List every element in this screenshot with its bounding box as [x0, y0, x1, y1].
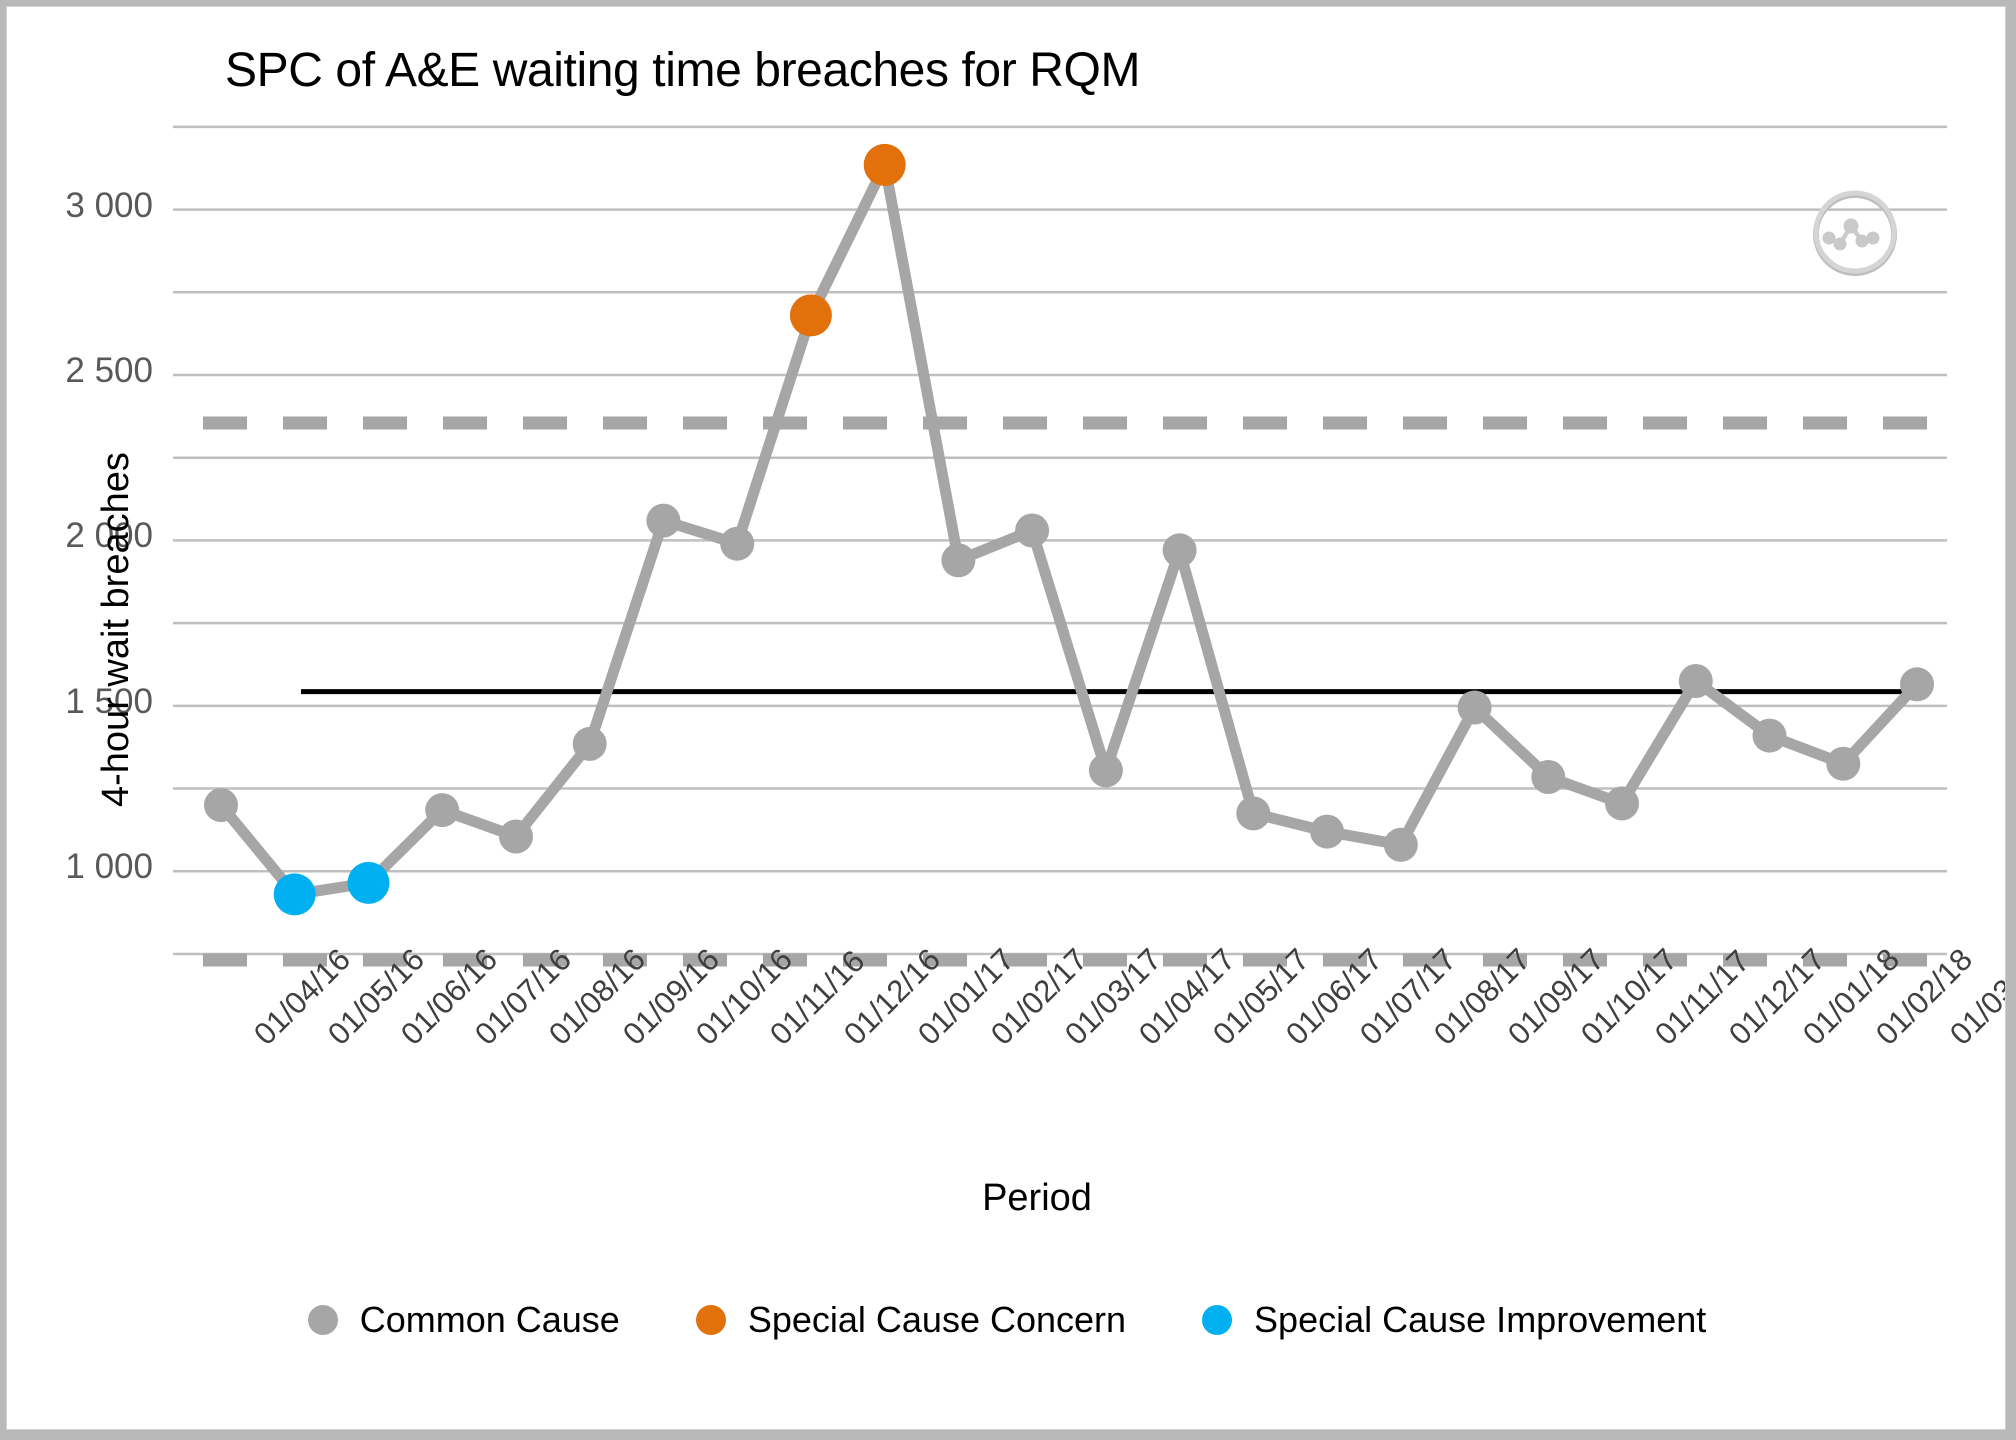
spc-chart-logo-icon [1807, 185, 1903, 281]
data-point-common[interactable] [499, 820, 533, 854]
x-axis-label: Period [982, 1177, 1092, 1220]
data-point-common[interactable] [1089, 753, 1123, 787]
data-point-common[interactable] [1753, 719, 1787, 753]
data-point-common[interactable] [1826, 747, 1860, 781]
legend-swatch-icon [696, 1305, 726, 1335]
legend-item[interactable]: Special Cause Concern [696, 1299, 1126, 1341]
legend-swatch-icon [308, 1305, 338, 1335]
data-point-common[interactable] [720, 527, 754, 561]
legend-label: Common Cause [360, 1299, 620, 1341]
data-point-common[interactable] [1531, 760, 1565, 794]
legend-label: Special Cause Concern [748, 1299, 1126, 1341]
series-polyline [221, 165, 1917, 895]
y-axis-label: 4-hour wait breaches [95, 452, 138, 807]
data-point-common[interactable] [1163, 533, 1197, 567]
data-point-common[interactable] [1900, 667, 1934, 701]
series-points [204, 144, 1934, 916]
data-point-common[interactable] [1605, 786, 1639, 820]
data-point-common[interactable] [1015, 514, 1049, 548]
data-point-concern[interactable] [790, 294, 832, 336]
y-tick-label: 3 000 [7, 186, 153, 226]
data-point-common[interactable] [1458, 691, 1492, 725]
y-tick-label: 2 500 [7, 351, 153, 391]
legend-item[interactable]: Special Cause Improvement [1202, 1299, 1706, 1341]
gridlines [173, 127, 1947, 954]
data-point-common[interactable] [1236, 796, 1270, 830]
y-tick-label: 1 000 [7, 847, 153, 887]
data-point-common[interactable] [573, 727, 607, 761]
data-point-common[interactable] [1310, 815, 1344, 849]
data-point-concern[interactable] [864, 144, 906, 186]
chart-canvas: SPC of A&E waiting time breaches for RQM… [6, 6, 2006, 1430]
data-point-improvement[interactable] [348, 862, 390, 904]
data-point-common[interactable] [941, 543, 975, 577]
data-point-improvement[interactable] [274, 873, 316, 915]
legend-item[interactable]: Common Cause [308, 1299, 620, 1341]
data-point-common[interactable] [1384, 828, 1418, 862]
data-point-common[interactable] [425, 793, 459, 827]
data-point-common[interactable] [1679, 664, 1713, 698]
data-point-common[interactable] [204, 788, 238, 822]
series-line [221, 165, 1917, 895]
legend-swatch-icon [1202, 1305, 1232, 1335]
chart-legend: Common CauseSpecial Cause ConcernSpecial… [7, 1299, 2006, 1341]
legend-label: Special Cause Improvement [1254, 1299, 1706, 1341]
data-point-common[interactable] [646, 504, 680, 538]
control-limit-lines [203, 423, 1937, 960]
